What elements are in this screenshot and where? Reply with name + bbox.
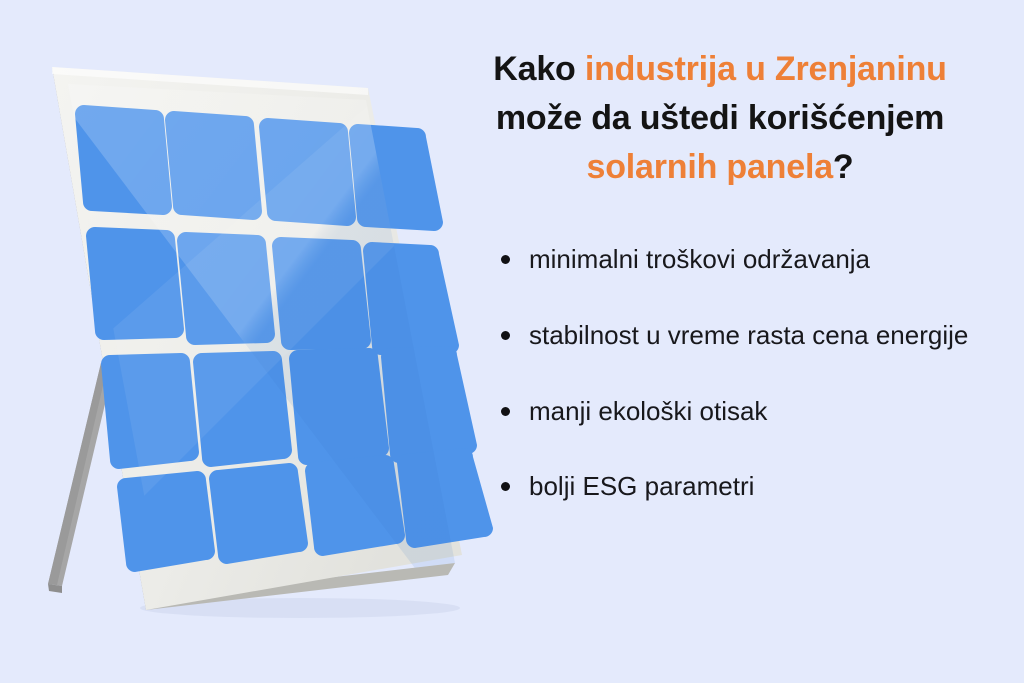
list-item-label: stabilnost u vreme rasta cena energije <box>529 318 992 353</box>
list-item-label: minimalni troškovi održavanja <box>529 242 992 277</box>
list-item: manji ekološki otisak <box>492 394 992 429</box>
list-item-label: manji ekološki otisak <box>529 394 992 429</box>
benefits-list: minimalni troškovi održavanja stabilnost… <box>492 242 992 504</box>
bullet-dot-icon <box>501 407 510 416</box>
bullet-dot-icon <box>501 482 510 491</box>
list-item: bolji ESG parametri <box>492 469 992 504</box>
list-item: stabilnost u vreme rasta cena energije <box>492 318 992 353</box>
headline-line-3-accent: solarnih panela <box>587 148 833 186</box>
headline-line-1-plain: Kako <box>493 50 585 88</box>
bullet-dot-icon <box>501 255 510 264</box>
list-item-label: bolji ESG parametri <box>529 469 992 504</box>
headline-line-3-plain: ? <box>833 148 854 186</box>
solar-panel-illustration <box>0 0 500 683</box>
headline-line-1-accent: industrija u Zrenjaninu <box>585 50 947 88</box>
list-item: minimalni troškovi održavanja <box>492 242 992 277</box>
bullet-dot-icon <box>501 331 510 340</box>
poster-canvas: Kako industrija u Zrenjaninu može da ušt… <box>0 0 1024 683</box>
headline-line-1: Kako industrija u Zrenjaninu <box>430 45 1010 94</box>
headline-line-3: solarnih panela? <box>430 143 1010 192</box>
text-column: Kako industrija u Zrenjaninu može da ušt… <box>430 0 1024 683</box>
headline-line-2: može da uštedi korišćenjem <box>430 94 1010 143</box>
page-title: Kako industrija u Zrenjaninu može da ušt… <box>430 45 1010 192</box>
